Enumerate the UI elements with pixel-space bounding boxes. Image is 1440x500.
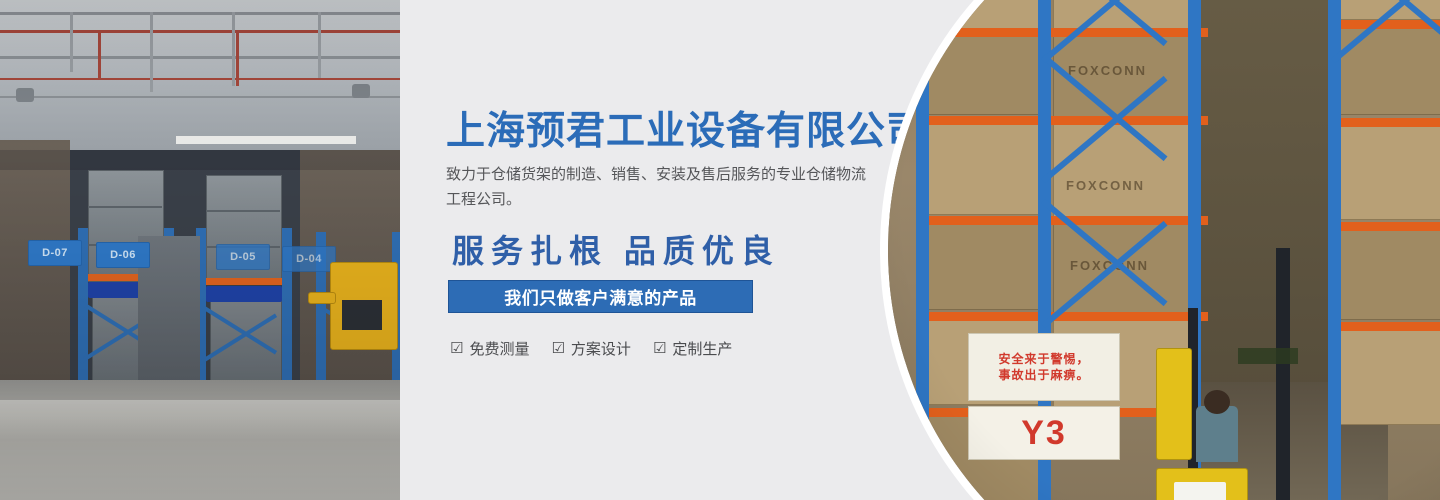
- feature-label: 定制生产: [672, 338, 732, 359]
- checkbox-checked-icon: ☑: [551, 341, 564, 356]
- company-subtitle: 致力于仓储货架的制造、销售、安装及售后服务的专业仓储物流工程公司。: [446, 162, 866, 212]
- photo-vignette: [0, 0, 400, 500]
- photo-vignette: [888, 0, 1440, 500]
- feature-item-custom-production: ☑ 定制生产: [653, 338, 732, 359]
- slogan: 服务扎根 品质优良: [452, 226, 780, 272]
- feature-list: ☑ 免费测量 ☑ 方案设计 ☑ 定制生产: [450, 338, 732, 359]
- promo-banner: D-07 D-06 D-05 D-04 上海预君工业设备有限公司 致力于仓储货架…: [0, 0, 1440, 500]
- checkbox-checked-icon: ☑: [450, 341, 463, 356]
- checkbox-checked-icon: ☑: [653, 341, 666, 356]
- feature-item-plan-design: ☑ 方案设计: [551, 338, 630, 359]
- company-title: 上海预君工业设备有限公司: [446, 100, 926, 156]
- center-content: 上海预君工业设备有限公司 致力于仓储货架的制造、销售、安装及售后服务的专业仓储物…: [400, 0, 960, 500]
- left-warehouse-photo: D-07 D-06 D-05 D-04: [0, 0, 400, 500]
- feature-item-free-measure: ☑ 免费测量: [450, 338, 529, 359]
- feature-label: 方案设计: [571, 338, 631, 359]
- right-photo-circle: FOXCONN FOXCONN FOXCONN FOXCONN: [880, 0, 1440, 500]
- right-warehouse-photo: FOXCONN FOXCONN FOXCONN FOXCONN: [888, 0, 1440, 500]
- feature-label: 免费测量: [469, 338, 529, 359]
- cta-button[interactable]: 我们只做客户满意的产品: [448, 280, 753, 313]
